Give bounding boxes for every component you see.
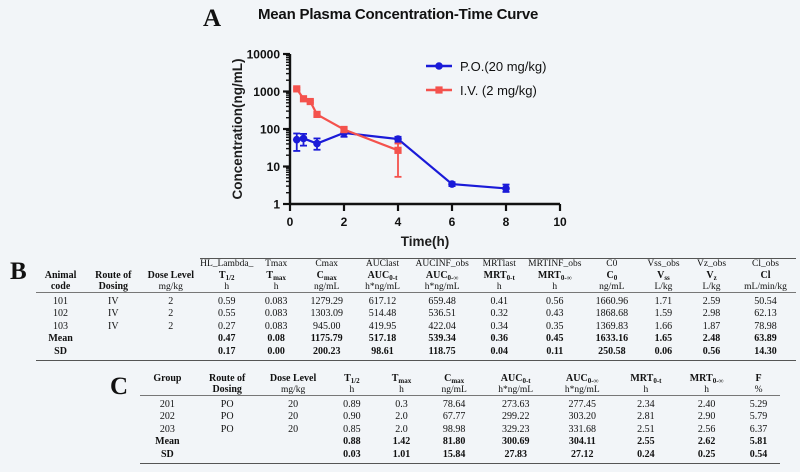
column-units: h [200,281,253,293]
table-cell: 0.11 [525,346,585,358]
table-cell: 0.88 [327,436,378,448]
panel-label-b: B [10,258,27,286]
table-cell: 0.54 [737,449,780,461]
table-cell: 1.65 [639,333,688,345]
column-group-label: AUCINF_obs [411,259,474,271]
table-cell: 0.03 [327,449,378,461]
table-cell: 5.29 [737,399,780,411]
column-header: F [737,373,780,384]
table-cell: 2.98 [688,308,735,320]
table-cell: 0.85 [327,424,378,436]
column-group-label: MRTlast [474,259,525,271]
y-tick-label: 10000 [247,48,281,62]
column-units: code [36,281,85,293]
table-cell: SD [36,346,85,358]
table-cell: IV [85,321,141,333]
column-units: h*ng/mL [549,384,616,396]
table-cell: 0.08 [253,333,299,345]
column-units: h [253,281,299,293]
column-header: Vz [688,270,735,281]
series-po [293,129,510,192]
table-cell [260,449,327,461]
column-header: Cl [735,270,796,281]
table-cell: 5.79 [737,411,780,423]
table-cell: 102 [36,308,85,320]
column-group-label: Cmax [299,259,355,271]
table-cell: 0.083 [253,296,299,308]
data-point [502,185,510,193]
table-cell: 2.90 [676,411,737,423]
table-cell: 201 [140,399,195,411]
table-cell: 2 [142,321,201,333]
table-cell: 1279.29 [299,296,355,308]
table-cell: Mean [36,333,85,345]
table-cell: 2.56 [676,424,737,436]
table-cell: PO [195,411,260,423]
table-cell: 304.11 [549,436,616,448]
table-cell: 78.98 [735,321,796,333]
table-row-sd: SD0.170.00200.2398.61118.750.040.11250.5… [36,346,796,358]
table-cell: 103 [36,321,85,333]
column-group-label: AUClast [354,259,410,271]
column-group-label [142,259,201,271]
table-cell: 1175.79 [299,333,355,345]
column-header: Cmax [426,373,483,384]
x-tick-label: 0 [287,215,294,229]
data-point [293,85,300,92]
column-units [140,384,195,396]
table-cell: IV [85,296,141,308]
table-cell: 1.71 [639,296,688,308]
table-cell: 2.48 [688,333,735,345]
table-cell: 0.35 [525,321,585,333]
table-cell: 2 [142,296,201,308]
legend-item-iv[interactable]: I.V. (2 mg/kg) [426,83,537,98]
column-units: mg/kg [142,281,201,293]
table-cell: 20 [260,411,327,423]
table-cell: 659.48 [411,296,474,308]
x-tick-label: 2 [341,215,348,229]
table-cell: IV [85,308,141,320]
column-units: h*ng/mL [411,281,474,293]
table-cell: 2.0 [377,424,426,436]
table-cell: 27.12 [549,449,616,461]
column-group-label: Tmax [253,259,299,271]
x-tick-label: 8 [503,215,510,229]
table-cell: 63.89 [735,333,796,345]
column-group-label: Vss_obs [639,259,688,271]
table-cell: 200.23 [299,346,355,358]
data-point [313,111,320,118]
column-header: Dose Level [142,270,201,281]
table-cell: 0.083 [253,308,299,320]
table-cell: 67.77 [426,411,483,423]
series-iv [293,85,401,177]
column-units: ng/mL [585,281,639,293]
table-cell: 2.59 [688,296,735,308]
column-header: MRT0-∞ [525,270,585,281]
table-cell: 2 [142,308,201,320]
table-header-row-top: HL_Lambda_TmaxCmaxAUClastAUCINF_obsMRTla… [36,259,796,271]
legend-marker [435,86,442,93]
data-point [307,98,314,105]
column-header: Tmax [377,373,426,384]
table-cell [142,346,201,358]
column-units: h [525,281,585,293]
table-cell: 299.22 [482,411,549,423]
table-row: 201PO200.890.378.64273.63277.452.342.405… [140,399,780,411]
column-header: MRT0-t [616,373,677,384]
table-cell: 617.12 [354,296,410,308]
table-cell: 0.00 [253,346,299,358]
column-units: h [327,384,378,396]
table-row-mean: Mean0.470.081175.79517.18539.340.360.451… [36,333,796,345]
data-point [293,136,301,144]
column-header: AUC0-t [354,270,410,281]
table-cell: 0.06 [639,346,688,358]
column-header: MRT0-t [474,270,525,281]
table-cell: 202 [140,411,195,423]
column-units: h*ng/mL [482,384,549,396]
column-units: % [737,384,780,396]
column-header: MRT0-∞ [676,373,737,384]
table-cell [195,449,260,461]
table-row: 103IV20.270.083945.00419.95422.040.340.3… [36,321,796,333]
data-point [300,95,307,102]
column-header: Route of [195,373,260,384]
column-group-label: Cl_obs [735,259,796,271]
table-header-row: GroupRoute ofDose LevelT1/2TmaxCmaxAUC0-… [140,373,780,384]
panel-label-a: A [203,5,221,33]
table-cell: 2.0 [377,411,426,423]
table-cell: Mean [140,436,195,448]
data-point [394,147,401,154]
table-cell: 277.45 [549,399,616,411]
column-group-label: MRTINF_obs [525,259,585,271]
series-line [297,133,506,189]
table-cell: PO [195,424,260,436]
table-cell: 539.34 [411,333,474,345]
column-group-label [85,259,141,271]
table-cell: 0.25 [676,449,737,461]
column-header: Vss [639,270,688,281]
table-cell: 329.23 [482,424,549,436]
column-units: h*ng/mL [354,281,410,293]
table-cell [85,333,141,345]
column-units: mL/min/kg [735,281,796,293]
table-cell: 15.84 [426,449,483,461]
column-units: L/kg [639,281,688,293]
table-cell: 331.68 [549,424,616,436]
table-header-row: AnimalRoute ofDose LevelT1/2TmaxCmaxAUC0… [36,270,796,281]
table-cell: 0.59 [200,296,253,308]
concentration-time-plot: 1101001000100000246810Time(h)Concentrati… [228,44,568,249]
column-units: h [377,384,426,396]
table-cell: 101 [36,296,85,308]
table-cell: 945.00 [299,321,355,333]
table-cell: 2.81 [616,411,677,423]
table-cell: 0.56 [525,296,585,308]
column-units: mg/kg [260,384,327,396]
table-cell: 118.75 [411,346,474,358]
table-cell: 50.54 [735,296,796,308]
table-cell: 300.69 [482,436,549,448]
column-units: Dosing [85,281,141,293]
table-cell: 0.90 [327,411,378,423]
table-cell: 0.17 [200,346,253,358]
column-header: Route of [85,270,141,281]
data-point [340,126,347,133]
table-cell: 517.18 [354,333,410,345]
data-point [394,135,402,143]
table-cell: 62.13 [735,308,796,320]
table-cell: 98.61 [354,346,410,358]
x-tick-label: 4 [395,215,402,229]
legend-label: I.V. (2 mg/kg) [460,83,537,98]
table-cell: 1.66 [639,321,688,333]
data-point [313,140,321,148]
table-cell: 1303.09 [299,308,355,320]
table-row: 102IV20.550.0831303.09514.48536.510.320.… [36,308,796,320]
table-cell: 0.083 [253,321,299,333]
table-row: 202PO200.902.067.77299.22303.202.812.905… [140,411,780,423]
table-cell: 81.80 [426,436,483,448]
legend-marker [435,62,443,70]
table-b-iv-pk-parameters: HL_Lambda_TmaxCmaxAUClastAUCINF_obsMRTla… [36,258,796,361]
column-group-label [36,259,85,271]
table-cell: 0.3 [377,399,426,411]
table-cell: 27.83 [482,449,549,461]
data-point [300,135,308,143]
table-cell: 0.45 [525,333,585,345]
column-group-label: HL_Lambda_ [200,259,253,271]
table-header-units-row: codeDosingmg/kghhng/mLh*ng/mLh*ng/mLhhng… [36,281,796,293]
chart-title: Mean Plasma Concentration-Time Curve [258,6,538,23]
table-cell: 1.42 [377,436,426,448]
column-units: ng/mL [299,281,355,293]
table-cell: 20 [260,424,327,436]
column-units: h [676,384,737,396]
table-cell: 6.37 [737,424,780,436]
bottom-rule [140,461,780,464]
column-header: T1/2 [327,373,378,384]
table-cell: 5.81 [737,436,780,448]
table-cell: 1.01 [377,449,426,461]
table-cell: 0.36 [474,333,525,345]
y-tick-label: 100 [260,123,280,137]
column-header: Group [140,373,195,384]
table-cell: 1.59 [639,308,688,320]
table-cell: 0.47 [200,333,253,345]
legend-label: P.O.(20 mg/kg) [460,59,546,74]
table-cell: 2.40 [676,399,737,411]
column-header: AUC0-∞ [549,373,616,384]
table-cell: 14.30 [735,346,796,358]
table-cell: 203 [140,424,195,436]
table-cell: 250.58 [585,346,639,358]
table-row: 203PO200.852.098.98329.23331.682.512.566… [140,424,780,436]
table-cell: 0.24 [616,449,677,461]
column-units: L/kg [688,281,735,293]
table-cell: 1868.68 [585,308,639,320]
table-cell: 98.98 [426,424,483,436]
table-cell: 0.34 [474,321,525,333]
table-cell: 0.56 [688,346,735,358]
x-tick-label: 6 [449,215,456,229]
table-cell [195,436,260,448]
plot-area: 1101001000100000246810Time(h)Concentrati… [228,44,568,249]
table-cell [85,346,141,358]
table-cell: 1.87 [688,321,735,333]
column-units: Dosing [195,384,260,396]
column-units: h [474,281,525,293]
table-row: 101IV20.590.0831279.29617.12659.480.410.… [36,296,796,308]
table-cell: 2.55 [616,436,677,448]
column-units: h [616,384,677,396]
table-cell: 303.20 [549,411,616,423]
panel-a-chart: A Mean Plasma Concentration-Time Curve 1… [0,0,800,252]
panel-label-c: C [110,373,128,401]
legend-item-po[interactable]: P.O.(20 mg/kg) [426,59,546,74]
table-cell: 0.32 [474,308,525,320]
table-cell: 2.34 [616,399,677,411]
column-header: AUC0-t [482,373,549,384]
table-cell: SD [140,449,195,461]
y-tick-label: 1 [273,198,280,212]
column-units: ng/mL [426,384,483,396]
table-cell: 20 [260,399,327,411]
bottom-rule [36,358,796,361]
table-cell: 1660.96 [585,296,639,308]
column-group-label: Vz_obs [688,259,735,271]
table-cell [260,436,327,448]
table-row-mean: Mean0.881.4281.80300.69304.112.552.625.8… [140,436,780,448]
y-tick-label: 1000 [253,85,280,99]
table-cell: 2.51 [616,424,677,436]
column-header: AUC0-∞ [411,270,474,281]
x-axis-title: Time(h) [401,234,450,249]
table-cell: 514.48 [354,308,410,320]
table-cell: 536.51 [411,308,474,320]
table-cell: 0.89 [327,399,378,411]
table-cell: 78.64 [426,399,483,411]
x-tick-label: 10 [553,215,567,229]
table-cell: 0.41 [474,296,525,308]
column-header: Tmax [253,270,299,281]
table-cell: 0.43 [525,308,585,320]
data-point [448,180,456,188]
table-cell: 1369.83 [585,321,639,333]
table-cell: 0.55 [200,308,253,320]
column-header: C0 [585,270,639,281]
table-cell: PO [195,399,260,411]
table-row-sd: SD0.031.0115.8427.8327.120.240.250.54 [140,449,780,461]
column-header: T1/2 [200,270,253,281]
table-cell: 1633.16 [585,333,639,345]
table-cell: 0.04 [474,346,525,358]
table-cell: 0.27 [200,321,253,333]
table-c-po-pk-parameters: GroupRoute ofDose LevelT1/2TmaxCmaxAUC0-… [140,373,780,464]
table-cell: 2.62 [676,436,737,448]
table-cell [142,333,201,345]
column-header: Cmax [299,270,355,281]
column-group-label: C0 [585,259,639,271]
table-cell: 273.63 [482,399,549,411]
y-tick-label: 10 [267,160,281,174]
table-cell: 419.95 [354,321,410,333]
table-cell: 422.04 [411,321,474,333]
y-axis-title: Concentration(ng/mL) [230,59,245,200]
column-header: Dose Level [260,373,327,384]
table-header-units-row: Dosingmg/kghhng/mLh*ng/mLh*ng/mLhh% [140,384,780,396]
column-header: Animal [36,270,85,281]
